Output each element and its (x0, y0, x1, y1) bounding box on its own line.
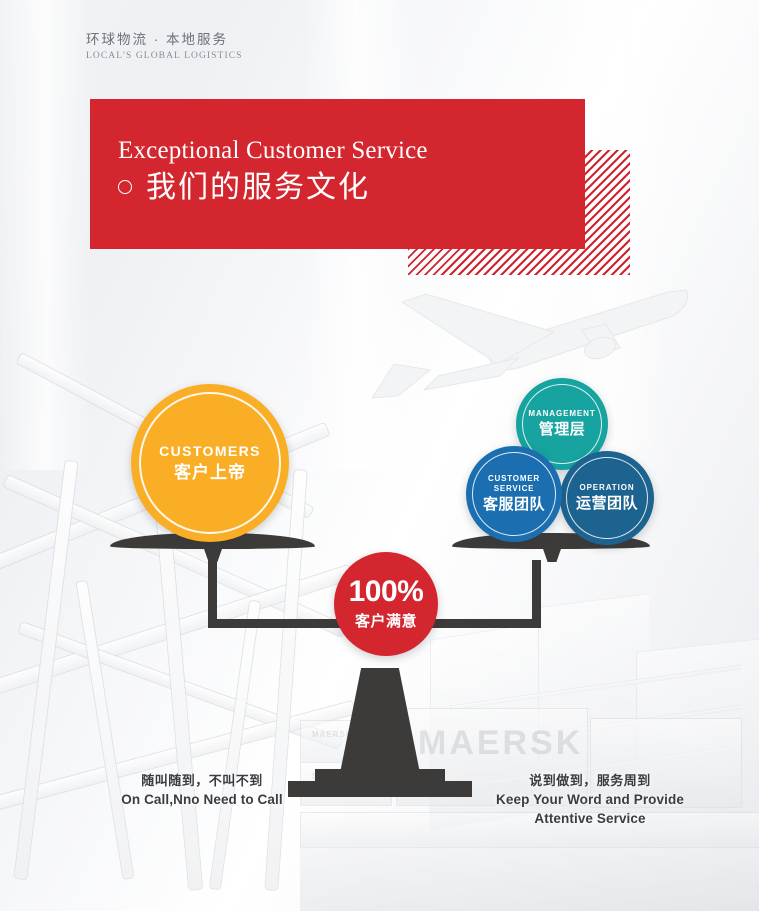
brand-name-cn: 环球物流 · 本地服务 (86, 32, 243, 49)
brand-name-en: LOCAL'S GLOBAL LOGISTICS (86, 51, 243, 63)
badge-customer-service-en-line1: CUSTOMER (488, 474, 540, 484)
scale-column (339, 668, 421, 778)
caption-left-cn: 随叫随到，不叫不到 (112, 772, 292, 790)
circle-outline-icon (118, 180, 132, 194)
badge-operation-cn: 运营团队 (576, 495, 638, 513)
satisfaction-percent: 100% (349, 577, 424, 607)
scale-stem-right (542, 546, 562, 562)
caption-right-cn: 说到做到，服务周到 (490, 772, 690, 790)
badge-customer-service[interactable]: CUSTOMER SERVICE 客服团队 (466, 446, 562, 542)
badge-management-cn: 管理层 (539, 421, 586, 439)
headline-chinese: 我们的服务文化 (146, 172, 370, 204)
caption-left-en: On Call,Nno Need to Call (112, 791, 292, 809)
badge-customers-cn: 客户上帝 (174, 463, 246, 483)
badge-operation-en: OPERATION (579, 483, 634, 493)
scale-base-foot (288, 781, 472, 797)
container-label-2: SEALAND (312, 772, 358, 781)
ship-hull-label: MAERSK (418, 724, 583, 763)
badge-satisfaction[interactable]: 100% 客户满意 (334, 552, 438, 656)
poster-canvas: MAERSK MAERSK SEALAND 环球物流 · 本地服务 LOCAL'… (0, 0, 759, 911)
scale-stem-left (203, 546, 223, 562)
headline-banner: Exceptional Customer Service 我们的服务文化 (90, 99, 585, 249)
headline-banner-content: Exceptional Customer Service 我们的服务文化 (118, 137, 569, 203)
container-label-1: MAERSK (312, 730, 353, 739)
caption-left: 随叫随到，不叫不到 On Call,Nno Need to Call (112, 772, 292, 809)
badge-management-en: MANAGEMENT (528, 409, 595, 419)
badge-customers[interactable]: CUSTOMERS 客户上帝 (131, 384, 289, 542)
satisfaction-label-cn: 客户满意 (355, 610, 417, 631)
brand-lockup: 环球物流 · 本地服务 LOCAL'S GLOBAL LOGISTICS (86, 32, 243, 63)
caption-right-en-line2: Attentive Service (490, 810, 690, 828)
headline-chinese-row: 我们的服务文化 (118, 172, 569, 204)
badge-customers-en: CUSTOMERS (159, 443, 261, 461)
badge-operation[interactable]: OPERATION 运营团队 (560, 451, 654, 545)
caption-right: 说到做到，服务周到 Keep Your Word and Provide Att… (490, 772, 690, 828)
scale-base-step (315, 769, 445, 783)
badge-inner-ring (472, 452, 556, 536)
badge-customer-service-en-line2: SERVICE (494, 484, 535, 494)
caption-right-en-line1: Keep Your Word and Provide (490, 791, 690, 809)
headline-english: Exceptional Customer Service (118, 137, 569, 165)
badge-customer-service-cn: 客服团队 (483, 496, 545, 514)
